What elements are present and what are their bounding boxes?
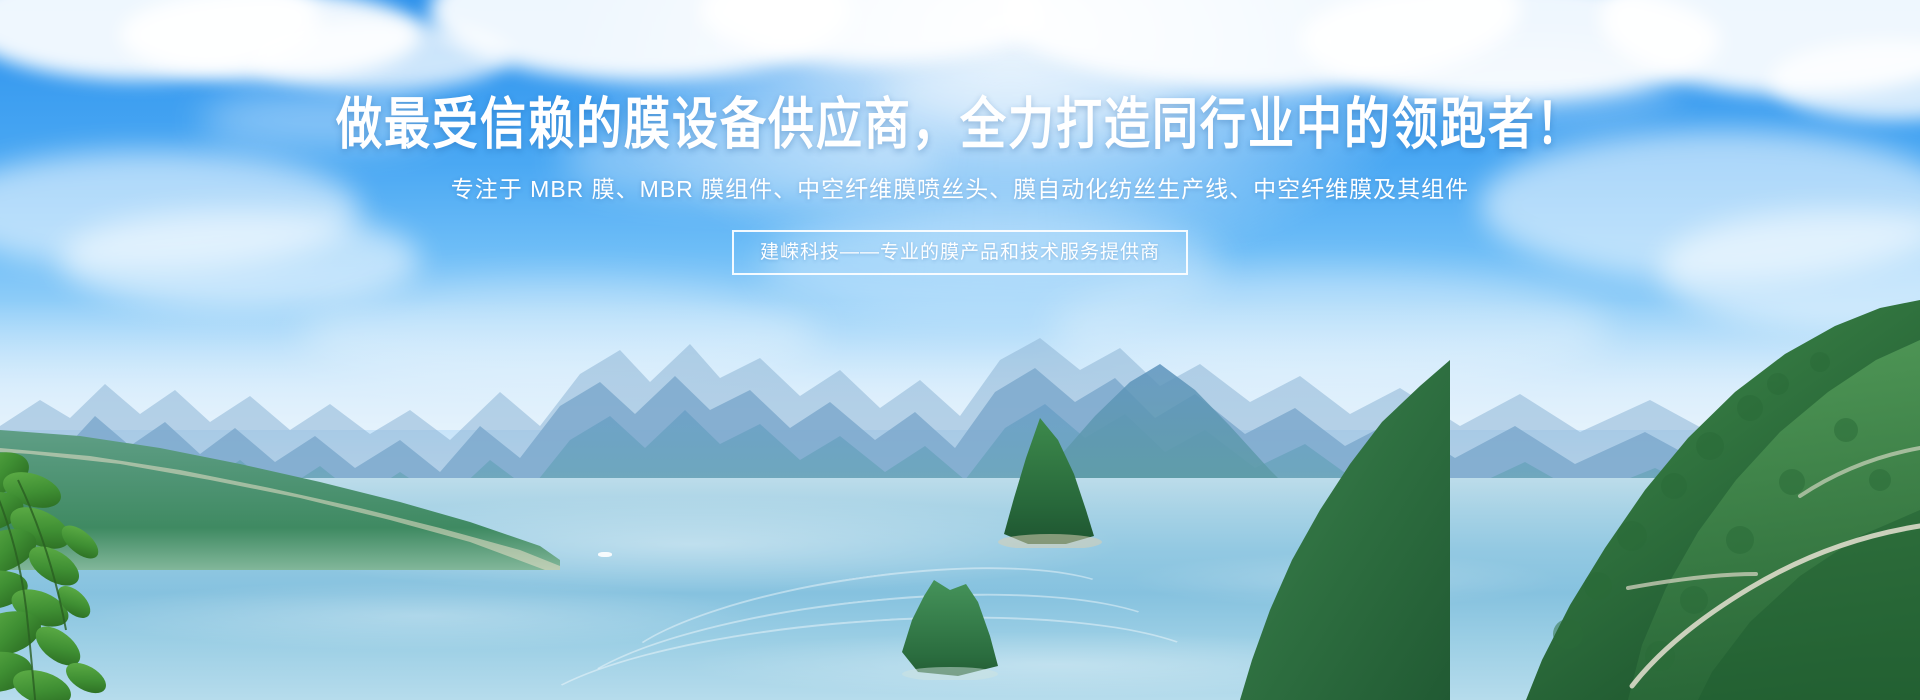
cloud <box>560 120 940 200</box>
cloud <box>60 210 420 310</box>
cloud <box>880 60 1180 130</box>
island-lower <box>880 580 1020 680</box>
cloud <box>200 90 440 150</box>
island-upper <box>970 418 1120 548</box>
foreground-foliage <box>0 450 190 700</box>
winding-road <box>1280 330 1920 700</box>
hero-banner: 做最受信赖的膜设备供应商，全力打造同行业中的领跑者！ 专注于 MBR 膜、MBR… <box>0 0 1920 700</box>
cloud <box>1380 40 1680 120</box>
boat <box>598 552 612 557</box>
